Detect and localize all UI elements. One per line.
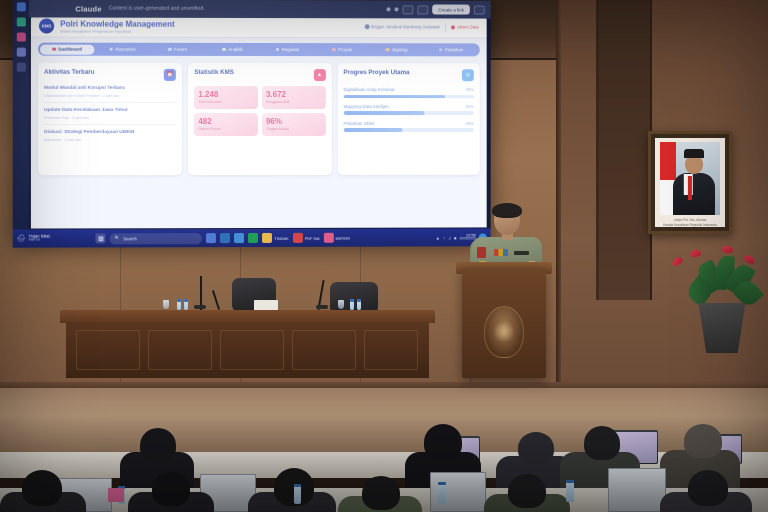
main-nav-tabs: Dashboard Repositori Forum Analitik <box>38 43 480 57</box>
card-header: Aktivitas Terbaru ⏰ <box>44 69 176 81</box>
nameplate <box>514 251 529 255</box>
doorway <box>596 0 652 300</box>
water-bottle <box>177 299 181 310</box>
tab-label: Dashboard <box>58 47 82 52</box>
tab-label: Proyek <box>338 47 352 52</box>
progress-fill <box>343 128 402 131</box>
chevron-up-icon[interactable]: ▲ <box>436 235 440 240</box>
stat-tile: 3.672 Pengguna Aktif <box>262 86 326 109</box>
list-item[interactable]: Diskusi: Strategi Pemberdayaan UMKM Bare… <box>44 125 176 146</box>
header-right-group: Brigjen Jenderal Bambang Setiawan Akses … <box>364 23 479 31</box>
stats-icon: ▲ <box>314 69 326 81</box>
audience-head <box>362 476 400 510</box>
progress-bar <box>343 128 473 131</box>
progress-label: Pelatihan SDM <box>343 121 373 126</box>
chart-icon <box>222 48 225 51</box>
stat-tile: 1.248 Total Dokumen <box>194 86 258 109</box>
access-data-label: Akses Data <box>457 24 479 29</box>
taskbar-app[interactable]: TINDAK <box>262 233 288 243</box>
activity-meta: Bareskrim · 1 hari lalu <box>44 138 176 142</box>
volume-icon[interactable]: ♫ <box>448 235 451 240</box>
audience-head <box>22 470 62 506</box>
tab-proyek[interactable]: Proyek <box>315 45 370 55</box>
page-title: Polri Knowledge Management <box>60 19 174 28</box>
stat-grid: 1.248 Total Dokumen 3.672 Pengguna Aktif… <box>194 86 325 136</box>
stat-value: 96% <box>266 117 322 126</box>
kms-app-window: KMS Polri Knowledge Management Sistem Ma… <box>31 15 487 228</box>
progress-bar <box>343 95 473 98</box>
progress-row: Mapping Data Intelijen 62% <box>343 104 473 109</box>
progress-fill <box>343 111 424 114</box>
progress-percent: 45% <box>465 121 473 126</box>
access-data-button[interactable]: Akses Data <box>451 24 479 29</box>
cap-icon <box>439 48 442 51</box>
progress-label: Digitalisasi Arsip Kriminal <box>343 87 394 92</box>
tab-forum[interactable]: Forum <box>150 44 205 54</box>
service-ribbons-icon <box>494 249 508 256</box>
taskbar-app[interactable]: PDF Dat <box>293 233 320 243</box>
pdf-icon <box>293 233 303 243</box>
weather-text: Hujan lebat Hari ini <box>29 235 50 243</box>
tab-label: Repositori <box>115 47 135 52</box>
microphone-base <box>316 305 328 309</box>
wall-divider <box>556 0 561 400</box>
table-front-panel <box>66 322 429 378</box>
portrait-tie <box>688 176 692 201</box>
home-icon <box>52 47 55 50</box>
card-progres-proyek: Progres Proyek Utama ◎ Digitalisasi Arsi… <box>337 63 479 175</box>
card-header: Statistik KMS ▲ <box>194 69 325 81</box>
explorer-icon[interactable] <box>220 233 230 243</box>
portrait-caption-title: Kepala Kepolisian Republik Indonesia <box>651 223 729 227</box>
link-icon[interactable] <box>403 5 414 14</box>
microphone-base <box>194 305 206 309</box>
document-icon <box>276 48 279 51</box>
tab-label: Regulasi <box>282 47 299 52</box>
tab-regulasi[interactable]: Regulasi <box>260 45 315 55</box>
table-panel <box>220 330 284 370</box>
taskbar-app-label: MATERI <box>335 235 349 240</box>
taskbar-app-label: PDF Dat <box>305 235 320 240</box>
portrait-peci-cap <box>684 149 704 158</box>
activity-meta: Korlantas Polri · 5 jam lalu <box>44 116 176 120</box>
drinking-glass <box>338 300 344 309</box>
user-account[interactable]: Brigjen Jenderal Bambang Setiawan <box>364 24 440 29</box>
more-options-icon[interactable] <box>387 7 391 11</box>
stat-value: 482 <box>198 117 254 126</box>
list-item[interactable]: Update Data Kecelakaan Jawa Timur Korlan… <box>44 103 176 125</box>
progress-item: Digitalisasi Arsip Kriminal 78% <box>343 87 473 98</box>
progress-fill <box>343 95 445 98</box>
create-link-button[interactable]: Create a link <box>432 4 469 14</box>
table-panel <box>364 330 418 370</box>
audience-head <box>508 474 546 508</box>
rain-icon: 🌧 <box>17 235 26 243</box>
task-view-icon[interactable] <box>206 233 216 243</box>
claude-banner: Claude Content is user-generated and unv… <box>13 0 491 19</box>
stat-label: Diskusi Forum <box>198 127 254 131</box>
app-header: KMS Polri Knowledge Management Sistem Ma… <box>31 15 487 38</box>
wifi-icon[interactable]: ◔ <box>443 235 445 240</box>
activity-title: Modul Wasdal anti Korupsi Terbaru <box>44 86 176 93</box>
conference-room-photo: Claude Content is user-generated and unv… <box>0 0 768 512</box>
tab-jejaring[interactable]: Jejaring <box>369 45 423 55</box>
card-aktivitas-terbaru: Aktivitas Terbaru ⏰ Modul Wasdal anti Ko… <box>38 63 182 176</box>
progress-item: Mapping Data Intelijen 62% <box>343 104 473 115</box>
briefcase-icon <box>332 48 335 51</box>
audience-head <box>684 424 722 458</box>
laptop <box>608 468 666 512</box>
tab-analitik[interactable]: Analitik <box>205 44 260 54</box>
card-title: Progres Proyek Utama <box>343 69 409 76</box>
card-header: Progres Proyek Utama ◎ <box>343 69 473 81</box>
rail-app-icon[interactable] <box>16 33 25 42</box>
chat-icon <box>168 48 171 51</box>
search-icon: 🔍 <box>115 235 120 241</box>
progress-bar <box>343 111 473 114</box>
activity-meta: Ditambahkan oleh Divisi Propam · 2 jam l… <box>44 94 176 98</box>
tab-dashboard[interactable]: Dashboard <box>39 44 94 54</box>
kms-logo-icon: KMS <box>39 18 54 33</box>
progress-row: Digitalisasi Arsip Kriminal 78% <box>343 87 473 92</box>
tab-label: Pelatihan <box>445 47 464 52</box>
water-bottle <box>184 299 188 310</box>
activity-title: Update Data Kecelakaan Jawa Timur <box>44 108 176 115</box>
taskbar-app-label: TINDAK <box>274 235 288 240</box>
network-icon <box>386 48 389 51</box>
progress-percent: 78% <box>465 87 473 92</box>
framed-portrait: Letjen Pol. Drs. Ahmad Kepala Kepolisian… <box>648 131 732 234</box>
excel-icon[interactable] <box>248 233 258 243</box>
podium <box>462 268 546 378</box>
activity-title: Diskusi: Strategi Pemberdayaan UMKM <box>44 130 176 137</box>
weather-widget[interactable]: 🌧 Hujan lebat Hari ini <box>17 235 50 243</box>
windows-taskbar: 🌧 Hujan lebat Hari ini ▦ 🔍 Search <box>13 228 491 247</box>
table-panel <box>76 330 140 370</box>
projection-screen: Claude Content is user-generated and unv… <box>13 0 491 248</box>
folder-icon <box>323 233 333 243</box>
stat-value: 1.248 <box>198 90 254 99</box>
claude-banner-actions: Create a link <box>387 4 485 14</box>
audience-head <box>424 424 462 460</box>
table-panel <box>148 330 212 370</box>
folder-icon <box>109 48 112 51</box>
progress-row: Pelatihan SDM 45% <box>343 121 473 126</box>
clock-icon: ⏰ <box>164 69 176 81</box>
stat-label: Tingkat Adopsi <box>266 127 322 131</box>
rank-patch-icon <box>477 247 486 258</box>
audience-head <box>518 432 554 464</box>
stat-label: Total Dokumen <box>198 100 254 104</box>
comment-icon[interactable] <box>418 5 429 14</box>
folder-icon <box>262 233 272 243</box>
app-title-group: Polri Knowledge Management Sistem Manaje… <box>60 19 174 33</box>
wall-divider-secondary <box>596 0 599 300</box>
dashboard-cards: Aktivitas Terbaru ⏰ Modul Wasdal anti Ko… <box>31 59 487 176</box>
page-subtitle: Sistem Manajemen Pengetahuan Kepolisian <box>60 29 174 33</box>
audience-head <box>152 472 190 506</box>
stat-value: 3.672 <box>266 90 322 99</box>
target-icon: ◎ <box>462 69 474 81</box>
pink-cup <box>108 488 124 502</box>
stat-label: Pengguna Aktif <box>266 100 322 104</box>
audience-head <box>584 426 620 460</box>
start-icon[interactable]: ▦ <box>96 233 106 243</box>
stat-tile: 482 Diskusi Forum <box>194 113 258 136</box>
rail-app-icon[interactable] <box>16 17 25 26</box>
portrait-photo <box>660 142 720 215</box>
water-bottle <box>350 299 354 310</box>
claude-disclaimer: Content is user-generated and unverified… <box>109 6 205 12</box>
tab-repositori[interactable]: Repositori <box>95 44 150 54</box>
claude-logo: Claude <box>75 4 101 13</box>
audience-head <box>140 428 176 462</box>
water-bottle <box>438 482 446 504</box>
tab-label: Analitik <box>228 47 243 52</box>
audience-head <box>688 470 728 506</box>
taskbar-center: ▦ 🔍 Search TINDAK PDF Dat <box>96 232 350 244</box>
water-bottle <box>294 484 301 504</box>
progress-percent: 62% <box>465 104 473 109</box>
weather-day: Hari ini <box>29 239 50 243</box>
table-panel <box>292 330 356 370</box>
eyeglasses-icon <box>496 216 518 221</box>
tab-label: Jejaring <box>392 47 408 52</box>
battery-icon[interactable]: ■ <box>454 235 456 240</box>
divider <box>445 23 446 31</box>
drinking-glass <box>163 300 169 309</box>
list-item[interactable]: Modul Wasdal anti Korupsi Terbaru Ditamb… <box>44 81 176 103</box>
os-left-rail <box>13 0 29 230</box>
card-title: Statistik KMS <box>194 69 234 76</box>
search-placeholder: Search <box>123 236 136 241</box>
water-bottle <box>566 480 574 502</box>
info-icon[interactable] <box>395 7 399 11</box>
police-emblem-icon <box>484 306 524 358</box>
expand-icon[interactable] <box>474 5 485 14</box>
nav-wrapper: Dashboard Repositori Forum Analitik <box>31 38 487 60</box>
stat-tile: 96% Tingkat Adopsi <box>262 113 326 136</box>
user-icon <box>364 24 369 29</box>
progress-label: Mapping Data Intelijen <box>343 104 388 109</box>
edge-icon[interactable] <box>234 233 244 243</box>
water-bottle <box>357 299 361 310</box>
portrait-suit <box>673 173 715 215</box>
tab-pelatihan[interactable]: Pelatihan <box>424 45 478 55</box>
tab-label: Forum <box>174 47 187 52</box>
card-statistik-kms: Statistik KMS ▲ 1.248 Total Dokumen 3.67… <box>188 63 331 175</box>
progress-item: Pelatihan SDM 45% <box>343 121 473 132</box>
taskbar-app[interactable]: MATERI <box>323 233 349 243</box>
power-icon <box>451 25 455 29</box>
search-input[interactable]: 🔍 Search <box>110 233 202 244</box>
user-name: Brigjen Jenderal Bambang Setiawan <box>371 24 440 29</box>
portrait-caption-name: Letjen Pol. Drs. Ahmad <box>651 218 729 222</box>
rail-app-icon[interactable] <box>16 2 25 11</box>
rail-app-icon[interactable] <box>16 48 25 57</box>
rail-app-icon[interactable] <box>16 63 25 72</box>
card-title: Aktivitas Terbaru <box>44 69 95 76</box>
